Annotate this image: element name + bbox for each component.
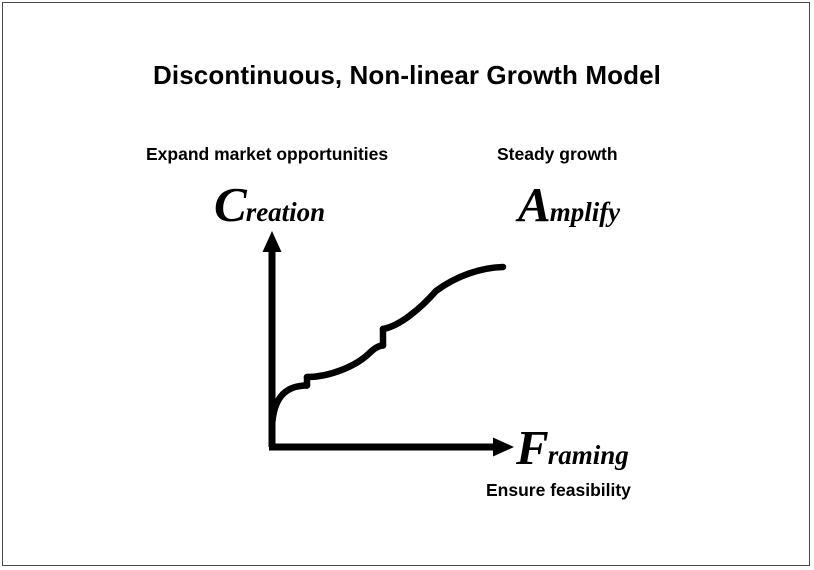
growth-model-chart xyxy=(0,0,814,570)
curve-segment-arc-2 xyxy=(307,346,383,378)
curve-segment-arc-3 xyxy=(383,267,503,329)
slide-canvas: Discontinuous, Non-linear Growth Model E… xyxy=(0,0,814,570)
chart-axes xyxy=(263,231,515,457)
curve-segment-arc-1 xyxy=(273,386,308,422)
x-axis-arrowhead-icon xyxy=(493,438,514,457)
growth-curve xyxy=(273,267,504,421)
y-axis-arrowhead-icon xyxy=(263,231,282,252)
